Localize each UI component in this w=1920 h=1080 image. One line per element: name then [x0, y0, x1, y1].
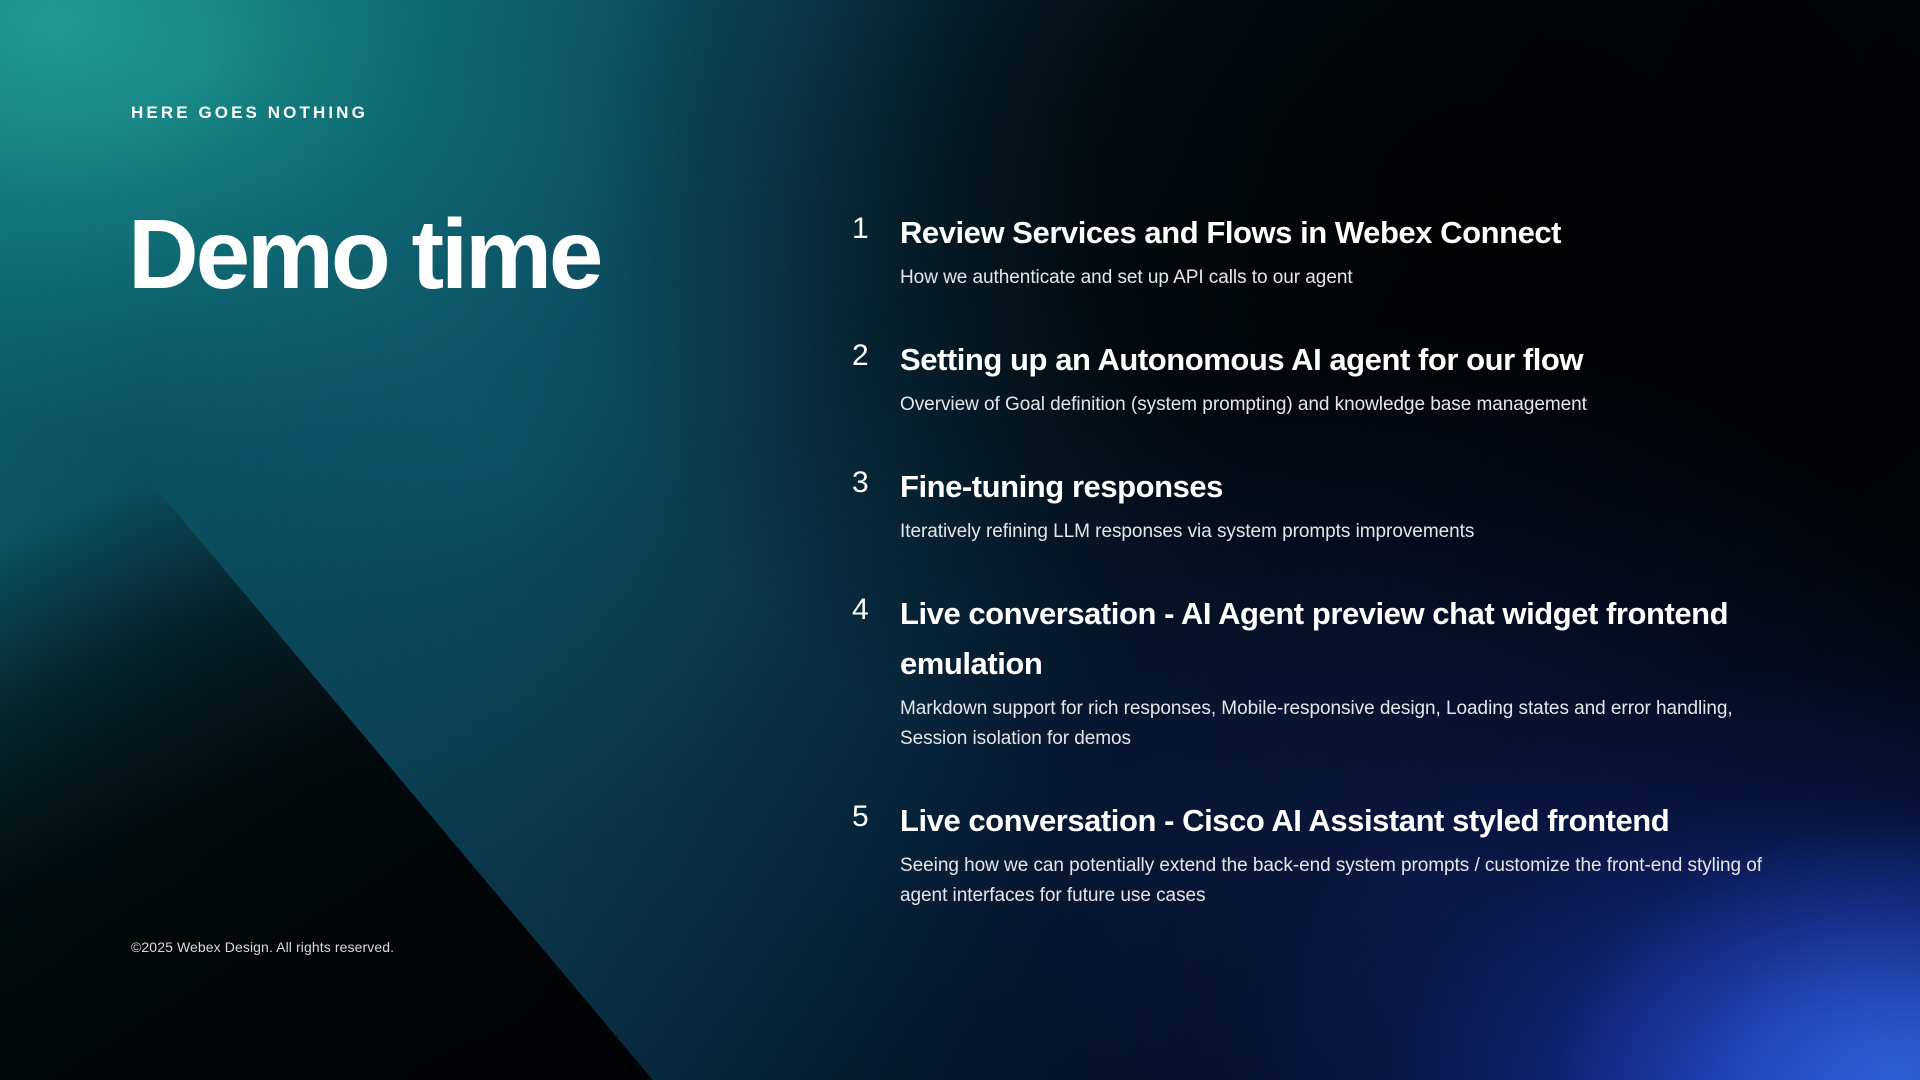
list-item[interactable]: 2 Setting up an Autonomous AI agent for …	[852, 335, 1792, 420]
copyright-notice: ©2025 Webex Design. All rights reserved.	[131, 939, 394, 955]
list-item-subtitle: Seeing how we can potentially extend the…	[900, 851, 1780, 911]
list-item-title: Review Services and Flows in Webex Conne…	[900, 208, 1792, 258]
list-item-title: Live conversation - Cisco AI Assistant s…	[900, 796, 1792, 846]
list-item-number: 1	[852, 208, 900, 250]
list-item-subtitle: Overview of Goal definition (system prom…	[900, 390, 1780, 420]
list-item-body: Fine-tuning responses Iteratively refini…	[900, 462, 1792, 547]
list-item-title: Fine-tuning responses	[900, 462, 1792, 512]
slide-content: HERE GOES NOTHING Demo time 1 Review Ser…	[0, 0, 1920, 1080]
list-item-body: Setting up an Autonomous AI agent for ou…	[900, 335, 1792, 420]
list-item-number: 4	[852, 589, 900, 631]
list-item-subtitle: How we authenticate and set up API calls…	[900, 263, 1780, 293]
list-item-body: Live conversation - AI Agent preview cha…	[900, 589, 1792, 754]
list-item-title: Live conversation - AI Agent preview cha…	[900, 589, 1792, 689]
list-item-number: 2	[852, 335, 900, 377]
page-title: Demo time	[128, 205, 600, 303]
list-item-number: 5	[852, 796, 900, 838]
list-item[interactable]: 5 Live conversation - Cisco AI Assistant…	[852, 796, 1792, 911]
list-item-body: Review Services and Flows in Webex Conne…	[900, 208, 1792, 293]
list-item-subtitle: Markdown support for rich responses, Mob…	[900, 694, 1780, 754]
list-item-subtitle: Iteratively refining LLM responses via s…	[900, 517, 1780, 547]
slide-eyebrow: HERE GOES NOTHING	[131, 103, 368, 123]
agenda-list: 1 Review Services and Flows in Webex Con…	[852, 208, 1792, 911]
list-item[interactable]: 3 Fine-tuning responses Iteratively refi…	[852, 462, 1792, 547]
list-item-body: Live conversation - Cisco AI Assistant s…	[900, 796, 1792, 911]
presentation-slide: HERE GOES NOTHING Demo time 1 Review Ser…	[0, 0, 1920, 1080]
list-item[interactable]: 4 Live conversation - AI Agent preview c…	[852, 589, 1792, 754]
list-item[interactable]: 1 Review Services and Flows in Webex Con…	[852, 208, 1792, 293]
list-item-number: 3	[852, 462, 900, 504]
list-item-title: Setting up an Autonomous AI agent for ou…	[900, 335, 1792, 385]
